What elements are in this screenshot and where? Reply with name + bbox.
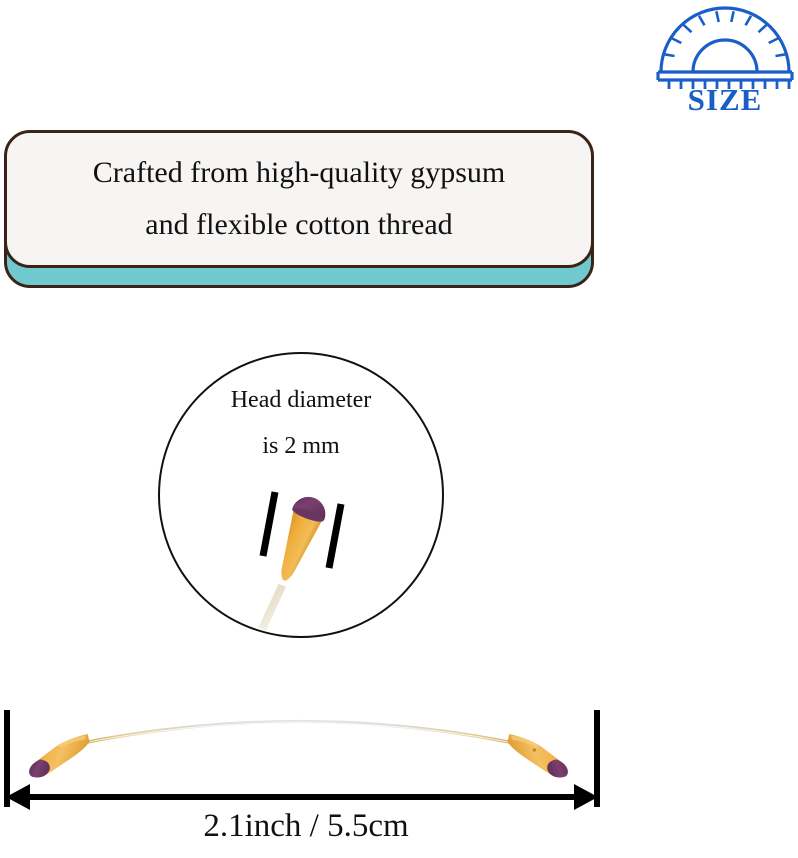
detail-caption: Head diameter is 2 mm [158, 388, 444, 458]
caliper-mark-right [329, 504, 341, 568]
product-infographic: SIZE Crafted from high-quality gypsum an… [0, 0, 798, 858]
cotton-thread-highlight [72, 723, 524, 746]
dimension-arrow-shaft [14, 794, 590, 800]
dimension-arrow [6, 784, 598, 810]
tip-thread [258, 583, 286, 632]
head-detail-callout: Head diameter is 2 mm [158, 352, 444, 638]
banner-text-line-2: and flexible cotton thread [145, 210, 452, 240]
product-dimension-figure: 2.1inch / 5.5cm [0, 688, 798, 858]
dimension-label: 2.1inch / 5.5cm [0, 808, 612, 844]
product-illustration [0, 688, 798, 813]
detail-text-line-1: Head diameter [158, 388, 444, 412]
caliper-mark-left [263, 492, 275, 556]
banner-face: Crafted from high-quality gypsum and fle… [4, 130, 594, 268]
tip-body-group [250, 492, 330, 636]
size-badge-label: SIZE [655, 84, 795, 115]
banner-text-line-1: Crafted from high-quality gypsum [93, 158, 505, 188]
handle-right [502, 734, 573, 779]
feature-banner: Crafted from high-quality gypsum and fle… [4, 130, 598, 290]
size-badge: SIZE [655, 2, 795, 124]
handle-left [24, 734, 95, 779]
magnified-tip-illustration [213, 472, 393, 638]
detail-text-line-2: is 2 mm [158, 434, 444, 458]
